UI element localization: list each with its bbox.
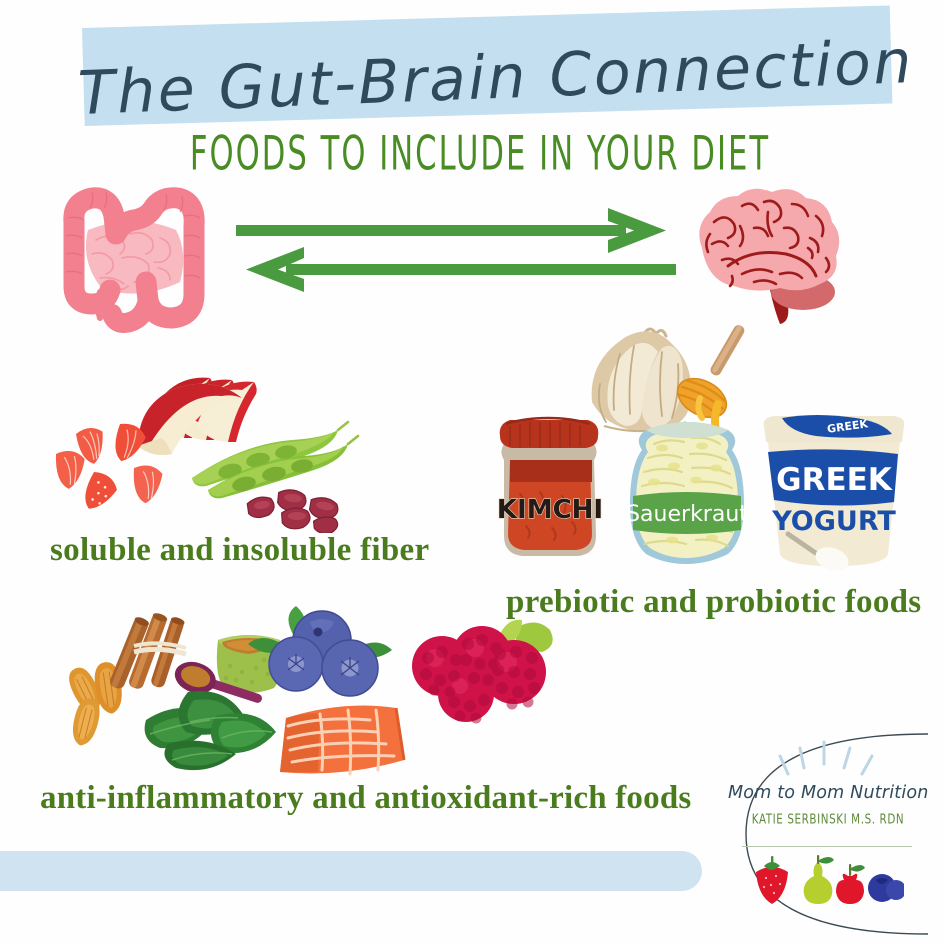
page-subtitle: FOODS TO INCLUDE IN YOUR DIET — [94, 126, 867, 185]
brain-illustration — [668, 182, 858, 332]
strawberry-icon — [756, 856, 788, 904]
prebiotic-probiotic-illustration: KIMCHI Saue — [496, 318, 916, 578]
fiber-foods-illustration — [42, 368, 462, 533]
sunburst-icon — [768, 740, 886, 782]
antiinflammatory-foods-illustration — [30, 602, 590, 782]
infographic-canvas: The Gut-Brain Connection FOODS TO INCLUD… — [0, 0, 945, 945]
kidney-beans — [247, 489, 340, 533]
spinach — [145, 691, 276, 770]
greek-yogurt-cup: GREEK GREEK YOGURT — [764, 415, 905, 575]
large-intestine-illustration — [48, 182, 218, 337]
kimchi-jar: KIMCHI — [497, 418, 603, 556]
logo-brand-name: Mom to Mom Nutrition — [728, 783, 928, 813]
cinnamon-sticks — [108, 612, 186, 691]
blueberry-icon — [868, 874, 904, 902]
sauerkraut-jar: Sauerkraut — [626, 422, 748, 564]
fiber-label: soluble and insoluble fiber — [50, 532, 429, 569]
salmon-fillet — [280, 706, 404, 774]
logo-credential: KATIE SERBINSKI M.S. RDN — [724, 811, 932, 832]
bidirectional-arrows — [236, 200, 676, 300]
kimchi-jar-text: KIMCHI — [497, 495, 603, 525]
logo-divider — [742, 846, 912, 847]
footer-bar — [0, 851, 702, 891]
arrow-gut-to-brain-shaft — [236, 225, 626, 236]
raspberries — [412, 620, 553, 724]
yogurt-band-text: GREEK — [776, 462, 893, 498]
apple-slices — [138, 378, 257, 455]
antiinflammatory-label: anti-inflammatory and antioxidant-rich f… — [40, 780, 691, 817]
apple-icon — [836, 864, 865, 904]
arrow-brain-to-gut-shaft — [286, 264, 676, 275]
garlic — [592, 329, 692, 432]
pear-icon — [804, 855, 834, 904]
logo-fruit-icons — [752, 854, 904, 906]
sauerkraut-jar-text: Sauerkraut — [626, 502, 748, 527]
